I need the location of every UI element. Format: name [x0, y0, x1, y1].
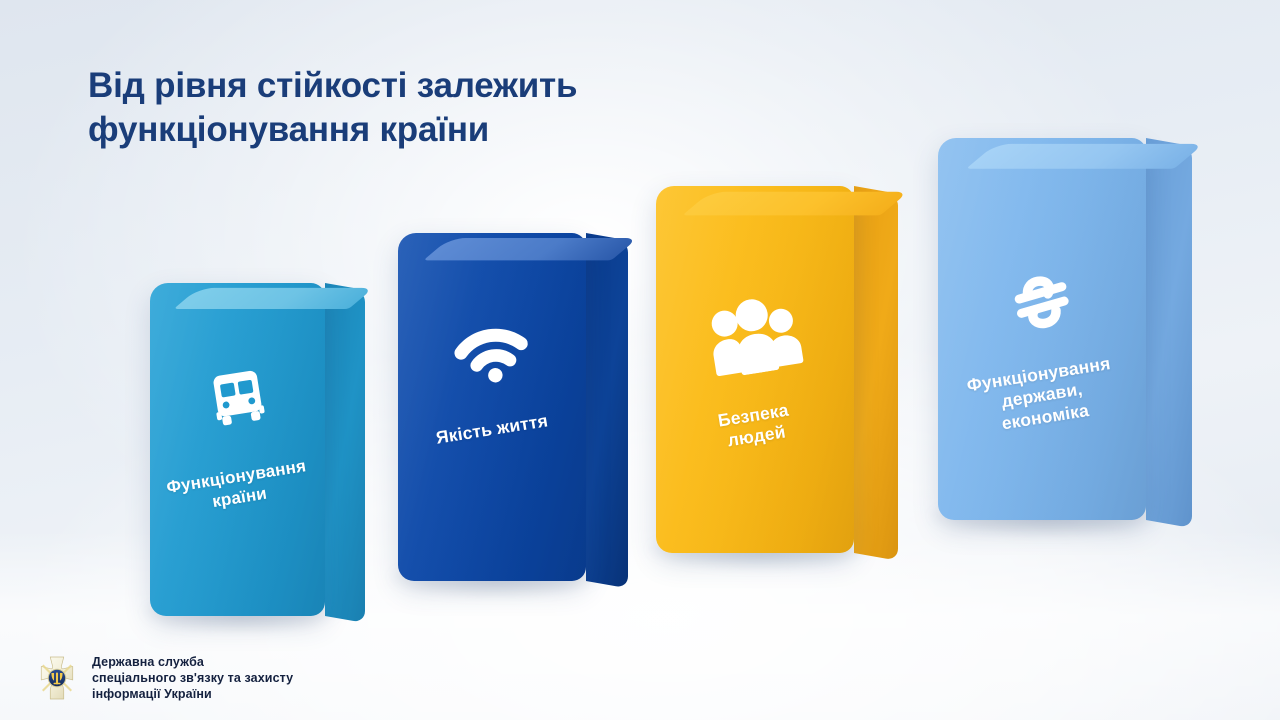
card-yakist-zhyttya[interactable]: Якість життя	[398, 233, 586, 581]
card-funktsionuvannya-krayiny[interactable]: Функціонування країни	[150, 283, 325, 616]
ukraine-cross-trident-emblem	[33, 654, 81, 702]
page-title: Від рівня стійкості залежить функціонува…	[88, 64, 788, 152]
card-side-face	[1146, 138, 1192, 528]
card-side-face	[586, 233, 628, 588]
slide-canvas: Від рівня стійкості залежить функціонува…	[0, 0, 1280, 720]
card-front-face	[938, 138, 1146, 520]
footer-branding: Державна служба спеціального зв'язку та …	[33, 654, 293, 702]
card-funktsionuvannya-derzhavy-ekonomika[interactable]: Функціонування держави, економіка	[938, 138, 1146, 520]
card-side-face	[854, 186, 898, 561]
card-front-face	[656, 186, 854, 553]
card-side-face	[325, 283, 365, 623]
card-front-face	[398, 233, 586, 581]
card-top-face	[174, 288, 374, 309]
card-bezpeka-lyudey[interactable]: Безпека людей	[656, 186, 854, 553]
card-front-face	[150, 283, 325, 616]
footer-organization-name: Державна служба спеціального зв'язку та …	[92, 654, 293, 702]
card-top-face	[682, 192, 908, 216]
card-top-face	[423, 238, 638, 260]
card-top-face	[966, 144, 1204, 169]
